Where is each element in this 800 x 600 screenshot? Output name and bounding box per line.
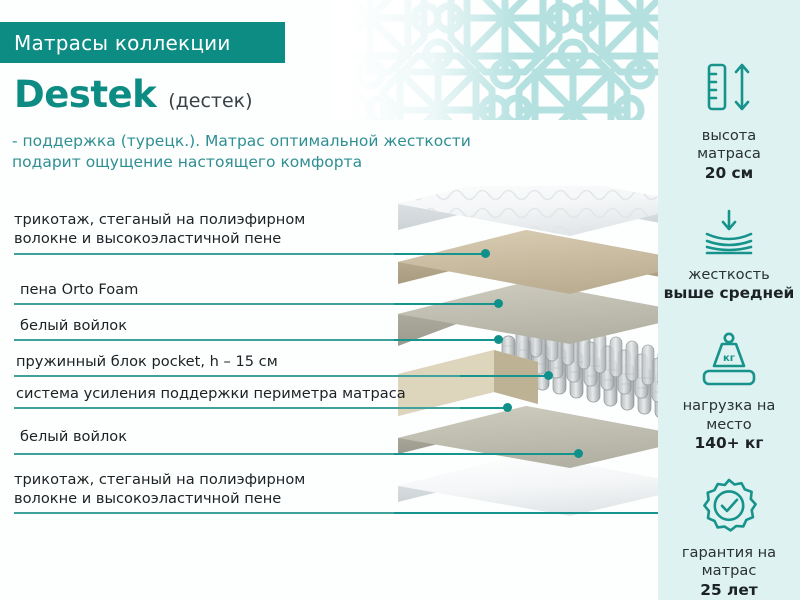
spec-warranty-value: 25 лет [682,581,776,600]
callout-perimeter-line1: система усиления поддержки периметра мат… [16,385,406,404]
leader-line-pocket-spring [460,375,547,377]
spec-firmness: жесткость выше средней [658,207,800,304]
spec-firmness-text: жесткость выше средней [664,266,795,304]
callout-rule-orto-foam [14,303,394,305]
weight-icon-label: кг [723,353,735,364]
leader-dot-perimeter [503,403,512,412]
spec-height-line2: матраса [697,145,761,163]
callout-white-felt-bottom: белый войлок [20,428,127,447]
callout-perimeter: система усиления поддержки периметра мат… [16,385,406,404]
spec-load: кг нагрузка на место 140+ кг [658,330,800,453]
warranty-badge-icon [700,477,758,535]
callout-top-knit-line2: волокне и высокоэластичной пене [14,230,305,249]
callout-bottom-knit-line2: волокне и высокоэластичной пене [14,490,305,509]
callout-pocket-spring-line1: пружинный блок pocket, h – 15 см [16,353,278,372]
leader-line-top-knit [394,253,484,255]
leader-line-bottom-knit [394,512,658,514]
callout-rule-bottom-knit [14,512,394,514]
callout-white-felt-top: белый войлок [20,317,127,336]
spec-sidebar: высота матраса 20 см [658,0,800,600]
callout-orto-foam: пена Orto Foam [20,281,138,300]
leader-dot-orto-foam [494,299,503,308]
layer-callouts: трикотаж, стеганый на полиэфирном волокн… [0,0,680,600]
callout-bottom-knit: трикотаж, стеганый на полиэфирном волокн… [14,471,305,508]
leader-dot-white-felt-bottom [574,449,583,458]
leader-dot-pocket-spring [544,371,553,380]
leader-dot-white-felt-top [494,335,503,344]
poster-canvas: Матрасы коллекции Destek (дестек) - подд… [0,0,800,600]
spec-warranty-line1: гарантия на [682,544,776,562]
leader-line-orto-foam [394,303,497,305]
callout-orto-foam-line1: пена Orto Foam [20,281,138,300]
spec-height: высота матраса 20 см [658,56,800,183]
spec-warranty: гарантия на матрас 25 лет [658,477,800,600]
callout-white-felt-top-line1: белый войлок [20,317,127,336]
leader-line-white-felt-bottom [394,453,577,455]
callout-top-knit: трикотаж, стеганый на полиэфирном волокн… [14,211,305,248]
callout-rule-white-felt-top [14,339,394,341]
firmness-wave-icon [697,207,761,257]
spec-load-value: 140+ кг [683,434,776,453]
callout-pocket-spring: пружинный блок pocket, h – 15 см [16,353,278,372]
spec-height-value: 20 см [697,164,761,183]
ruler-height-icon [700,56,758,118]
leader-line-perimeter [460,407,506,409]
spec-load-line1: нагрузка на [683,397,776,415]
callout-top-knit-line1: трикотаж, стеганый на полиэфирном [14,211,305,230]
spec-load-line2: место [683,416,776,434]
spec-firmness-value: выше средней [664,284,795,303]
spec-firmness-line1: жесткость [664,266,795,284]
leader-line-white-felt-top [394,339,497,341]
callout-bottom-knit-line1: трикотаж, стеганый на полиэфирном [14,471,305,490]
spec-height-text: высота матраса 20 см [697,127,761,183]
callout-white-felt-bottom-line1: белый войлок [20,428,127,447]
spec-load-text: нагрузка на место 140+ кг [683,397,776,453]
callout-rule-top-knit [14,253,394,255]
callout-rule-pocket-spring [14,375,460,377]
callout-rule-white-felt-bottom [14,453,394,455]
spec-height-line1: высота [697,127,761,145]
callout-rule-perimeter [14,407,460,409]
leader-dot-top-knit [481,249,490,258]
spec-warranty-line2: матрас [682,562,776,580]
spec-warranty-text: гарантия на матрас 25 лет [682,544,776,600]
weight-load-icon: кг [692,330,766,388]
